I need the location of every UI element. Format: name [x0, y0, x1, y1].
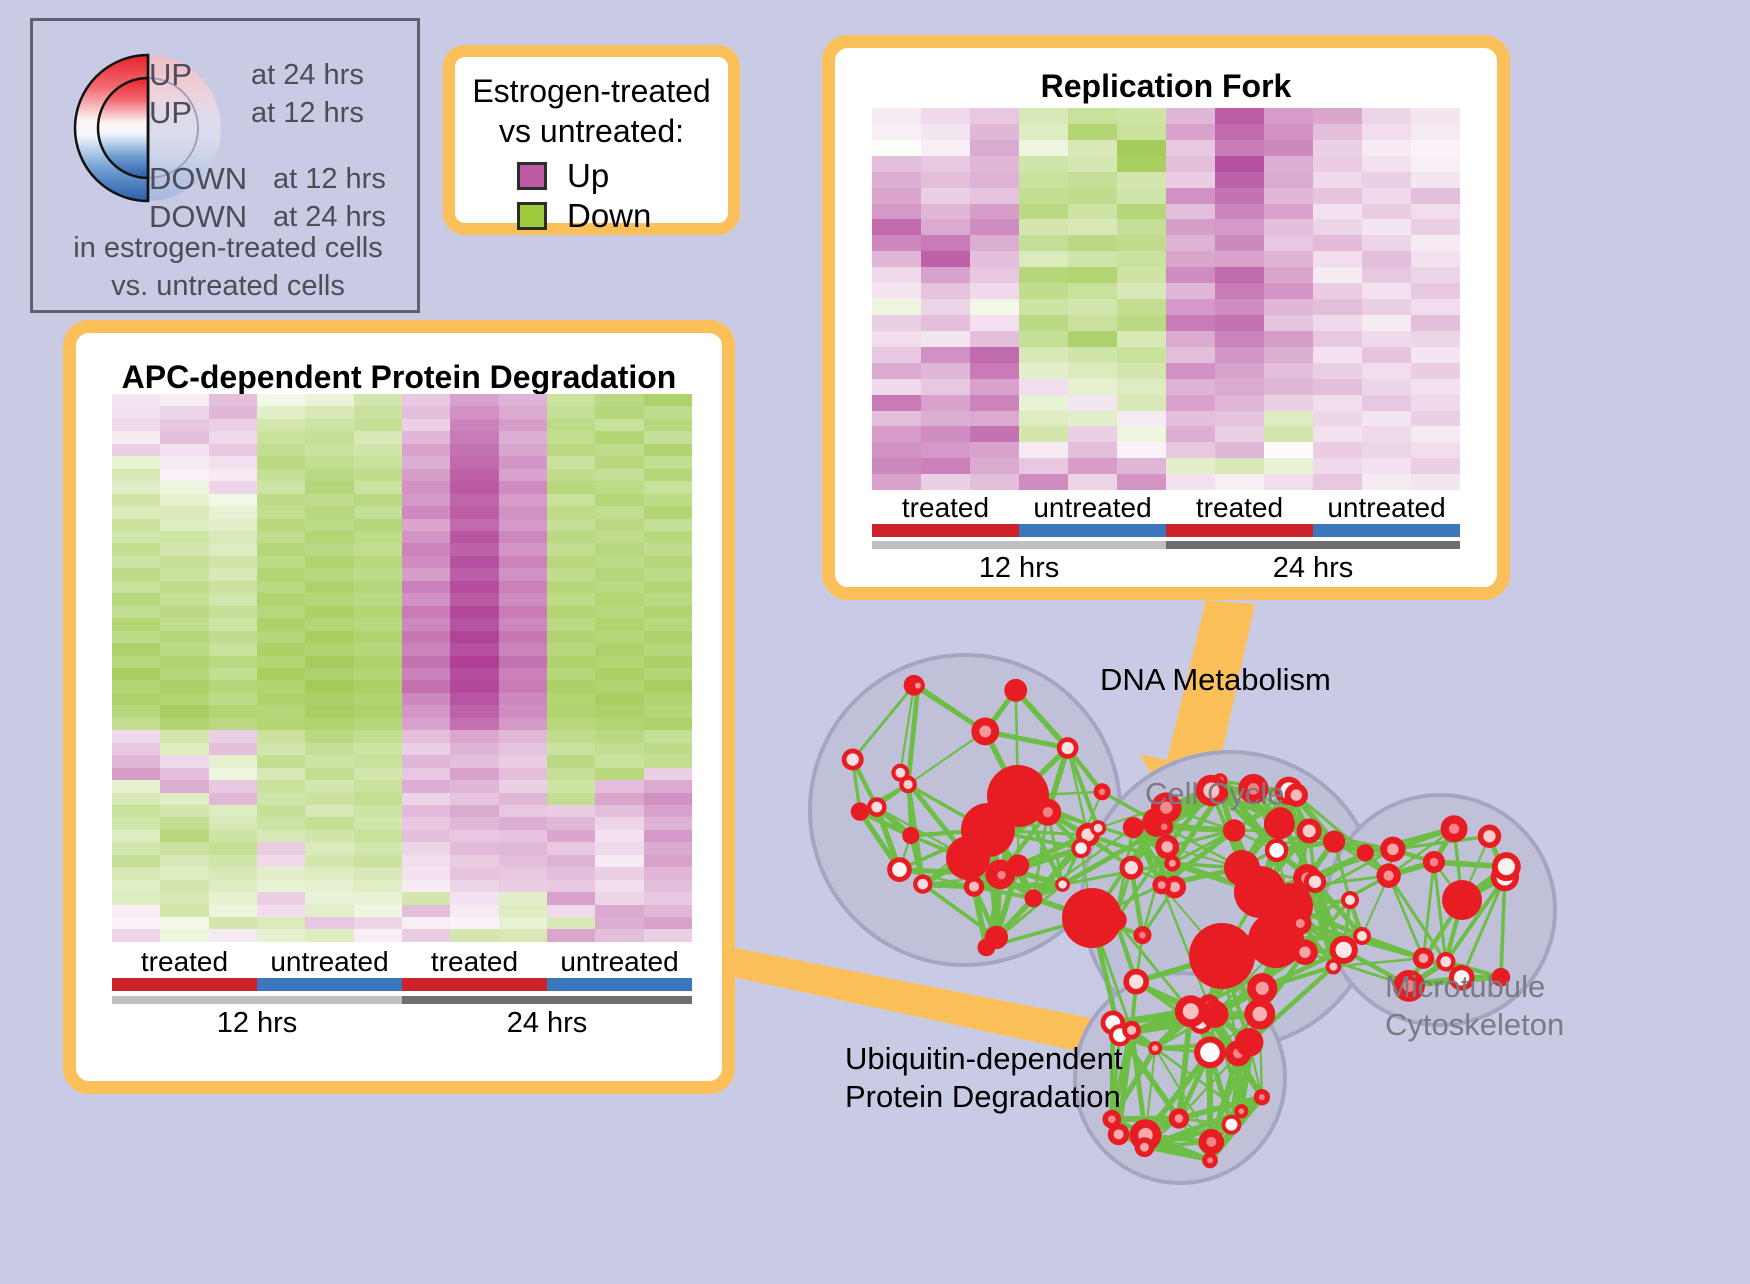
heatmap-cell — [402, 855, 450, 867]
heatmap-cell — [1411, 156, 1460, 172]
heatmap-cell — [354, 419, 402, 431]
heatmap-cell — [547, 394, 595, 406]
heatmap-cell — [595, 780, 643, 792]
heatmap-cell — [160, 892, 208, 904]
heatmap-cell — [595, 830, 643, 842]
heatmap-cell — [1117, 219, 1166, 235]
heatmap-cell — [160, 543, 208, 555]
heatmap-cell — [1362, 188, 1411, 204]
network-node[interactable] — [1090, 820, 1106, 836]
axis-time-bar — [872, 541, 1166, 549]
network-node[interactable] — [899, 776, 917, 794]
heatmap-cell — [1215, 267, 1264, 283]
heatmap-cell — [257, 406, 305, 418]
node-inner-fill — [1419, 953, 1429, 963]
heatmap-cell — [595, 531, 643, 543]
axis-group-label: treated — [112, 946, 257, 978]
node-inner-fill — [1296, 919, 1305, 928]
heatmap-cell — [1264, 299, 1313, 315]
heatmap-cell — [499, 917, 547, 929]
heatmap-cell — [1313, 108, 1362, 124]
network-node[interactable] — [1292, 939, 1318, 965]
network-node[interactable] — [1357, 844, 1374, 861]
heatmap-cell — [1019, 315, 1068, 331]
heatmap-cell — [1411, 299, 1460, 315]
node-inner-fill — [1099, 789, 1105, 795]
heatmap-cell — [499, 581, 547, 593]
heatmap-cell — [1166, 379, 1215, 395]
heatmap-cell — [499, 519, 547, 531]
network-node[interactable] — [1353, 927, 1371, 945]
network-node[interactable] — [1062, 888, 1122, 948]
axis-group-bar — [402, 978, 547, 991]
network-node[interactable] — [1413, 947, 1434, 968]
heatmap-cell — [354, 606, 402, 618]
axis-group-label: untreated — [1313, 492, 1460, 524]
heatmap-cell — [1411, 124, 1460, 140]
heatmap-cell — [1362, 379, 1411, 395]
heatmap-cell — [644, 531, 692, 543]
heatmap-cell — [402, 743, 450, 755]
network-node[interactable] — [1094, 783, 1111, 800]
network-node[interactable] — [842, 749, 864, 771]
heatmap-cell — [1264, 395, 1313, 411]
heatmap-cell — [644, 705, 692, 717]
network-node[interactable] — [1135, 1137, 1155, 1157]
heatmap-cell — [1019, 379, 1068, 395]
heatmap-cell — [872, 347, 921, 363]
heatmap-cell — [450, 905, 498, 917]
network-node[interactable] — [913, 875, 932, 894]
heatmap-cell — [872, 140, 921, 156]
heatmap-cell — [921, 426, 970, 442]
heatmap-cell — [1411, 172, 1460, 188]
network-node[interactable] — [1169, 1108, 1189, 1128]
heatmap-cell — [970, 267, 1019, 283]
heatmap-column — [160, 394, 208, 942]
node-outer-ring — [946, 836, 990, 880]
heatmap-cell — [402, 519, 450, 531]
axis-time-label: 12 hrs — [112, 1007, 402, 1040]
network-node[interactable] — [1123, 817, 1144, 838]
heatmap-cell — [112, 793, 160, 805]
heatmap-cell — [1264, 188, 1313, 204]
heatmap-cell — [1362, 172, 1411, 188]
network-node[interactable] — [1189, 923, 1255, 989]
node-inner-fill — [1303, 824, 1316, 837]
heatmap-cell — [112, 705, 160, 717]
heatmap-cell — [1313, 172, 1362, 188]
heatmap-cell — [1117, 235, 1166, 251]
heatmap-cell — [595, 805, 643, 817]
heatmap-cell — [354, 730, 402, 742]
heatmap-cell — [499, 793, 547, 805]
heatmap-cell — [547, 469, 595, 481]
heatmap-cell — [1117, 458, 1166, 474]
heatmap-cell — [1117, 411, 1166, 427]
network-node[interactable] — [1492, 852, 1521, 881]
network-node[interactable] — [1323, 830, 1345, 852]
heatmap-cell — [354, 556, 402, 568]
heatmap-cell — [595, 406, 643, 418]
cluster-label-microtubule: Microtubule Cytoskeleton — [1385, 968, 1564, 1044]
heatmap-cell — [160, 419, 208, 431]
heatmap-cell — [1313, 299, 1362, 315]
heatmap-cell — [402, 668, 450, 680]
network-node[interactable] — [1004, 679, 1027, 702]
node-inner-fill — [1206, 1137, 1216, 1147]
node-outer-ring — [1357, 844, 1374, 861]
heatmap-cell — [1264, 363, 1313, 379]
axis-time-label: 24 hrs — [1166, 552, 1460, 585]
heatmap-cell — [547, 406, 595, 418]
heatmap-cell — [1215, 140, 1264, 156]
heatmap-cell — [1019, 283, 1068, 299]
heatmap-cell — [354, 805, 402, 817]
heatmap-cell — [872, 474, 921, 490]
heatmap-cell — [547, 805, 595, 817]
network-node[interactable] — [1376, 863, 1400, 887]
heatmap-cell — [499, 593, 547, 605]
network-node[interactable] — [1152, 876, 1171, 895]
heatmap-cell — [499, 668, 547, 680]
heatmap-cell — [257, 419, 305, 431]
network-node[interactable] — [971, 717, 999, 745]
heatmap-cell — [1215, 395, 1264, 411]
heatmap-cell — [1019, 267, 1068, 283]
heatmap-cell — [1117, 251, 1166, 267]
heatmap-cell — [450, 469, 498, 481]
network-node[interactable] — [1478, 824, 1502, 848]
network-node[interactable] — [1297, 818, 1322, 843]
heatmap-cell — [112, 506, 160, 518]
heatmap-cell — [1117, 140, 1166, 156]
heatmap-cell — [644, 631, 692, 643]
heatmap-cell — [499, 693, 547, 705]
heatmap-cell — [257, 768, 305, 780]
heatmap-cell — [547, 543, 595, 555]
heatmap-cell — [1166, 267, 1215, 283]
axis-group-label: untreated — [257, 946, 402, 978]
heatmap-cell — [354, 855, 402, 867]
heatmap-cell — [354, 668, 402, 680]
heatmap-cell — [921, 188, 970, 204]
node-outer-ring — [902, 827, 919, 844]
heatmap-cell — [160, 929, 208, 941]
heatmap-cell — [1313, 458, 1362, 474]
heatmap-cell — [1117, 267, 1166, 283]
heatmap-cell — [112, 830, 160, 842]
heatmap-cell — [872, 426, 921, 442]
heatmap-cell — [305, 469, 353, 481]
heatmap-cell — [1117, 299, 1166, 315]
heatmap-cell — [305, 543, 353, 555]
heatmap-column — [1019, 108, 1068, 490]
heatmap-cell — [257, 880, 305, 892]
heatmap-cell — [1411, 140, 1460, 156]
heatmap-cell — [305, 456, 353, 468]
network-node[interactable] — [1055, 877, 1070, 892]
heatmap-cell — [595, 668, 643, 680]
network-node[interactable] — [1123, 969, 1149, 995]
heatmap-cell — [1117, 395, 1166, 411]
heatmap-cell — [112, 481, 160, 493]
heatmap-cell — [644, 506, 692, 518]
heatmap-cell — [305, 817, 353, 829]
heatmap-cell — [354, 394, 402, 406]
node-inner-fill — [1200, 1043, 1220, 1063]
heatmap-cell — [160, 693, 208, 705]
heatmap-cell — [257, 643, 305, 655]
heatmap-cell — [209, 680, 257, 692]
heatmap-cell — [1215, 426, 1264, 442]
network-node[interactable] — [1071, 838, 1091, 858]
node-inner-fill — [1430, 858, 1439, 867]
heatmap-cell — [450, 855, 498, 867]
heatmap-cell — [1411, 188, 1460, 204]
heatmap-cell — [257, 568, 305, 580]
network-node[interactable] — [985, 926, 1008, 949]
heatmap-cell — [970, 411, 1019, 427]
network-node[interactable] — [902, 827, 919, 844]
heatmap-cell — [112, 755, 160, 767]
heatmap-cell — [1117, 124, 1166, 140]
heatmap-cell — [499, 506, 547, 518]
heatmap-cell — [1215, 172, 1264, 188]
heatmap-cell — [872, 283, 921, 299]
heatmap-cell — [499, 494, 547, 506]
heatmap-cell — [547, 431, 595, 443]
heatmap-cell — [305, 593, 353, 605]
network-node[interactable] — [1289, 912, 1312, 935]
network-node[interactable] — [911, 679, 925, 693]
network-node[interactable] — [1025, 889, 1043, 907]
heatmap-cell — [257, 805, 305, 817]
heatmap-cell — [644, 855, 692, 867]
heatmap-cell — [1313, 331, 1362, 347]
heatmap-cell — [644, 593, 692, 605]
heatmap-cell — [1068, 267, 1117, 283]
heatmap-cell — [209, 929, 257, 941]
heatmap-cell — [1019, 426, 1068, 442]
heatmap-cell — [1215, 347, 1264, 363]
heatmap-cell — [1019, 188, 1068, 204]
axis-group-labels-apc: treateduntreatedtreateduntreated — [112, 946, 692, 978]
heatmap-cell — [160, 880, 208, 892]
heatmap-cell — [644, 817, 692, 829]
heatmap-cell — [1068, 331, 1117, 347]
heatmap-cell — [112, 568, 160, 580]
network-node[interactable] — [1244, 999, 1275, 1030]
heatmap-cell — [499, 880, 547, 892]
heatmap-cell — [1411, 331, 1460, 347]
heatmap-cell — [402, 880, 450, 892]
axis-time-label: 24 hrs — [402, 1007, 692, 1040]
heatmap-cell — [547, 680, 595, 692]
heatmap-cell — [450, 842, 498, 854]
heatmap-cell — [450, 643, 498, 655]
heatmap-cell — [112, 805, 160, 817]
network-node[interactable] — [1380, 837, 1405, 862]
network-node[interactable] — [1199, 1129, 1225, 1155]
heatmap-replication-fork — [872, 108, 1460, 490]
heatmap-cell — [160, 730, 208, 742]
heatmap-cell — [112, 419, 160, 431]
heatmap-cell — [450, 793, 498, 805]
heatmap-cell — [547, 718, 595, 730]
heatmap-cell — [209, 830, 257, 842]
legend-footer-line-1: in estrogen-treated cells — [33, 229, 423, 267]
heatmap-cell — [450, 506, 498, 518]
heatmap-cell — [1166, 188, 1215, 204]
heatmap-cell — [1264, 426, 1313, 442]
heatmap-cell — [1117, 108, 1166, 124]
network-node[interactable] — [1224, 850, 1260, 886]
heatmap-cell — [160, 668, 208, 680]
heatmap-cell — [257, 506, 305, 518]
network-node[interactable] — [1247, 973, 1277, 1003]
heatmap-cell — [1019, 347, 1068, 363]
network-node[interactable] — [1194, 1036, 1226, 1068]
heatmap-cell — [160, 643, 208, 655]
axis-group-bar — [1313, 524, 1460, 537]
heatmap-cell — [354, 743, 402, 755]
heatmap-cell — [1313, 204, 1362, 220]
heatmap-cell — [209, 543, 257, 555]
heatmap-cell — [305, 680, 353, 692]
network-node[interactable] — [991, 864, 1013, 886]
heatmap-cell — [595, 419, 643, 431]
network-node[interactable] — [1201, 1000, 1229, 1028]
network-node[interactable] — [1441, 815, 1468, 842]
node-inner-fill — [1158, 881, 1166, 889]
node-inner-fill — [1357, 931, 1367, 941]
heatmap-cell — [1411, 442, 1460, 458]
network-node[interactable] — [1330, 936, 1358, 964]
heatmap-cell — [499, 680, 547, 692]
axis-group-bars-replication-fork — [872, 524, 1460, 537]
network-node[interactable] — [1221, 1115, 1241, 1135]
heatmap-cell — [160, 656, 208, 668]
heatmap-cell — [450, 556, 498, 568]
network-node[interactable] — [1133, 926, 1151, 944]
heatmap-cell — [595, 456, 643, 468]
heatmap-cell — [1362, 156, 1411, 172]
heatmap-cell — [1019, 156, 1068, 172]
axis-group-label: treated — [402, 946, 547, 978]
heatmap-cell — [257, 905, 305, 917]
heatmap-cell — [1411, 251, 1460, 267]
node-outer-ring — [1323, 830, 1345, 852]
network-node[interactable] — [1155, 835, 1179, 859]
heatmap-cell — [354, 693, 402, 705]
heatmap-cell — [1264, 124, 1313, 140]
heatmap-cell — [921, 108, 970, 124]
heatmap-cell — [1117, 188, 1166, 204]
heatmap-cell — [160, 830, 208, 842]
heatmap-cell — [354, 406, 402, 418]
network-node[interactable] — [1265, 839, 1289, 863]
heatmap-cell — [872, 331, 921, 347]
network-node[interactable] — [1034, 799, 1061, 826]
heatmap-cell — [1166, 299, 1215, 315]
network-node[interactable] — [867, 797, 887, 817]
network-node[interactable] — [1122, 1021, 1141, 1040]
heatmap-column — [1313, 108, 1362, 490]
heatmap-cell — [547, 606, 595, 618]
network-node[interactable] — [851, 802, 869, 820]
heatmap-cell — [872, 267, 921, 283]
heatmap-cell — [112, 743, 160, 755]
heatmap-cell — [1166, 108, 1215, 124]
network-node[interactable] — [1202, 1153, 1218, 1169]
node-outer-ring — [851, 802, 869, 820]
heatmap-cell — [872, 219, 921, 235]
heatmap-cell — [209, 606, 257, 618]
network-node[interactable] — [1285, 783, 1308, 806]
network-node[interactable] — [946, 836, 990, 880]
heatmap-cell — [112, 768, 160, 780]
heatmap-cell — [1313, 267, 1362, 283]
network-node[interactable] — [1341, 891, 1359, 909]
network-node[interactable] — [1148, 1041, 1162, 1055]
heatmap-cell — [1215, 315, 1264, 331]
heatmap-cell — [970, 235, 1019, 251]
heatmap-cell — [257, 929, 305, 941]
node-inner-fill — [903, 780, 912, 789]
heatmap-cell — [354, 469, 402, 481]
heatmap-cell — [499, 543, 547, 555]
network-node[interactable] — [1254, 1089, 1270, 1105]
network-node[interactable] — [1057, 737, 1079, 759]
heatmap-cell — [970, 426, 1019, 442]
heatmap-cell — [450, 519, 498, 531]
heatmap-cell — [305, 905, 353, 917]
heatmap-cell — [209, 506, 257, 518]
heatmap-cell — [257, 531, 305, 543]
heatmap-cell — [112, 444, 160, 456]
heatmap-cell — [1264, 331, 1313, 347]
heatmap-cell — [209, 817, 257, 829]
heatmap-cell — [1068, 188, 1117, 204]
heatmap-cell — [547, 705, 595, 717]
heatmap-cell — [872, 235, 921, 251]
heatmap-cell — [1362, 108, 1411, 124]
network-node[interactable] — [1442, 880, 1482, 920]
heatmap-cell — [450, 631, 498, 643]
network-node[interactable] — [1304, 871, 1326, 893]
network-node[interactable] — [1223, 819, 1245, 841]
heatmap-cell — [644, 481, 692, 493]
network-node[interactable] — [1423, 851, 1445, 873]
heatmap-cell — [160, 444, 208, 456]
network-node[interactable] — [964, 876, 984, 896]
heatmap-cell — [450, 929, 498, 941]
heatmap-cell — [499, 867, 547, 879]
node-inner-fill — [1299, 946, 1310, 957]
network-node[interactable] — [1119, 856, 1143, 880]
heatmap-cell — [209, 444, 257, 456]
node-inner-fill — [1169, 860, 1176, 867]
heatmap-cell — [547, 855, 595, 867]
heatmap-cell — [499, 905, 547, 917]
heatmap-cell — [970, 379, 1019, 395]
heatmap-cell — [402, 531, 450, 543]
heatmap-cell — [1362, 124, 1411, 140]
network-node[interactable] — [887, 857, 912, 882]
network-node[interactable] — [1235, 1028, 1264, 1057]
heatmap-cell — [257, 394, 305, 406]
